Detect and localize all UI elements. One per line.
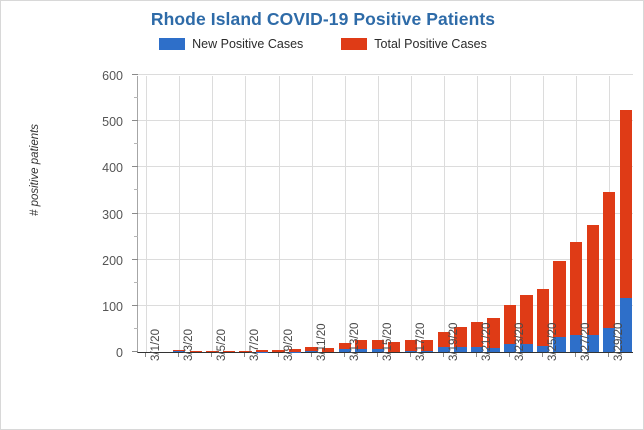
x-axis-tick-label: 3/3/20 <box>183 329 195 361</box>
x-gridline <box>378 76 379 352</box>
x-gridline <box>444 76 445 352</box>
y-axis-tick <box>132 120 138 121</box>
x-axis-tick-label: 3/19/20 <box>448 323 460 361</box>
bar-segment-total-positive-cases[interactable] <box>603 192 615 328</box>
x-axis-tick <box>244 353 245 357</box>
x-gridline <box>477 76 478 352</box>
x-gridline <box>312 76 313 352</box>
x-axis-tick-label: 3/21/20 <box>481 323 493 361</box>
x-axis-tick-label: 3/23/20 <box>514 323 526 361</box>
x-axis-tick <box>608 353 609 357</box>
x-axis-tick <box>178 353 179 357</box>
x-gridline <box>345 76 346 352</box>
chart-page: Rhode Island COVID-19 Positive Patients … <box>0 0 644 430</box>
x-axis-tick-label: 3/15/20 <box>382 323 394 361</box>
x-axis-tick <box>145 353 146 357</box>
x-axis-tick <box>344 353 345 357</box>
x-axis-tick-label: 3/29/20 <box>613 323 625 361</box>
bar-segment-total-positive-cases[interactable] <box>587 225 599 335</box>
bar-column[interactable] <box>620 110 632 352</box>
x-gridline <box>179 76 180 352</box>
y-axis-tick <box>134 143 138 144</box>
x-axis-tick <box>542 353 543 357</box>
y-axis-tick <box>132 213 138 214</box>
x-axis-tick-labels: 3/1/203/3/203/5/203/7/203/9/203/11/203/1… <box>137 353 633 430</box>
x-axis-tick-label: 3/17/20 <box>415 323 427 361</box>
x-axis-tick-label: 3/27/20 <box>580 323 592 361</box>
x-gridline <box>245 76 246 352</box>
y-gridline <box>138 74 633 75</box>
x-axis-tick-label: 3/11/20 <box>316 323 328 361</box>
x-axis-tick-label: 3/25/20 <box>547 323 559 361</box>
bar-segment-total-positive-cases[interactable] <box>620 110 632 298</box>
y-axis-tick <box>132 166 138 167</box>
x-axis-tick-label: 3/13/20 <box>349 323 361 361</box>
y-axis-tick <box>132 259 138 260</box>
x-gridline <box>279 76 280 352</box>
x-gridline <box>411 76 412 352</box>
x-axis-tick <box>278 353 279 357</box>
x-axis-tick <box>575 353 576 357</box>
x-axis-tick <box>311 353 312 357</box>
x-axis-tick-label: 3/5/20 <box>216 329 228 361</box>
plot-area <box>137 76 633 353</box>
y-axis-tick <box>134 97 138 98</box>
x-axis-tick-label: 3/9/20 <box>283 329 295 361</box>
y-axis-tick <box>134 282 138 283</box>
x-gridline <box>146 76 147 352</box>
x-axis-tick-label: 3/1/20 <box>150 329 162 361</box>
x-axis-tick <box>443 353 444 357</box>
x-axis-tick <box>211 353 212 357</box>
bar-segment-total-positive-cases[interactable] <box>570 242 582 336</box>
y-axis-tick <box>134 189 138 190</box>
x-axis-tick-label: 3/7/20 <box>249 329 261 361</box>
x-axis-tick <box>410 353 411 357</box>
y-axis-tick <box>134 328 138 329</box>
x-axis-tick <box>476 353 477 357</box>
x-gridline <box>212 76 213 352</box>
y-axis-tick <box>132 305 138 306</box>
x-axis-tick <box>509 353 510 357</box>
y-axis-tick <box>134 236 138 237</box>
x-axis-tick <box>377 353 378 357</box>
y-axis-tick <box>132 74 138 75</box>
y-axis-tick <box>132 351 138 352</box>
